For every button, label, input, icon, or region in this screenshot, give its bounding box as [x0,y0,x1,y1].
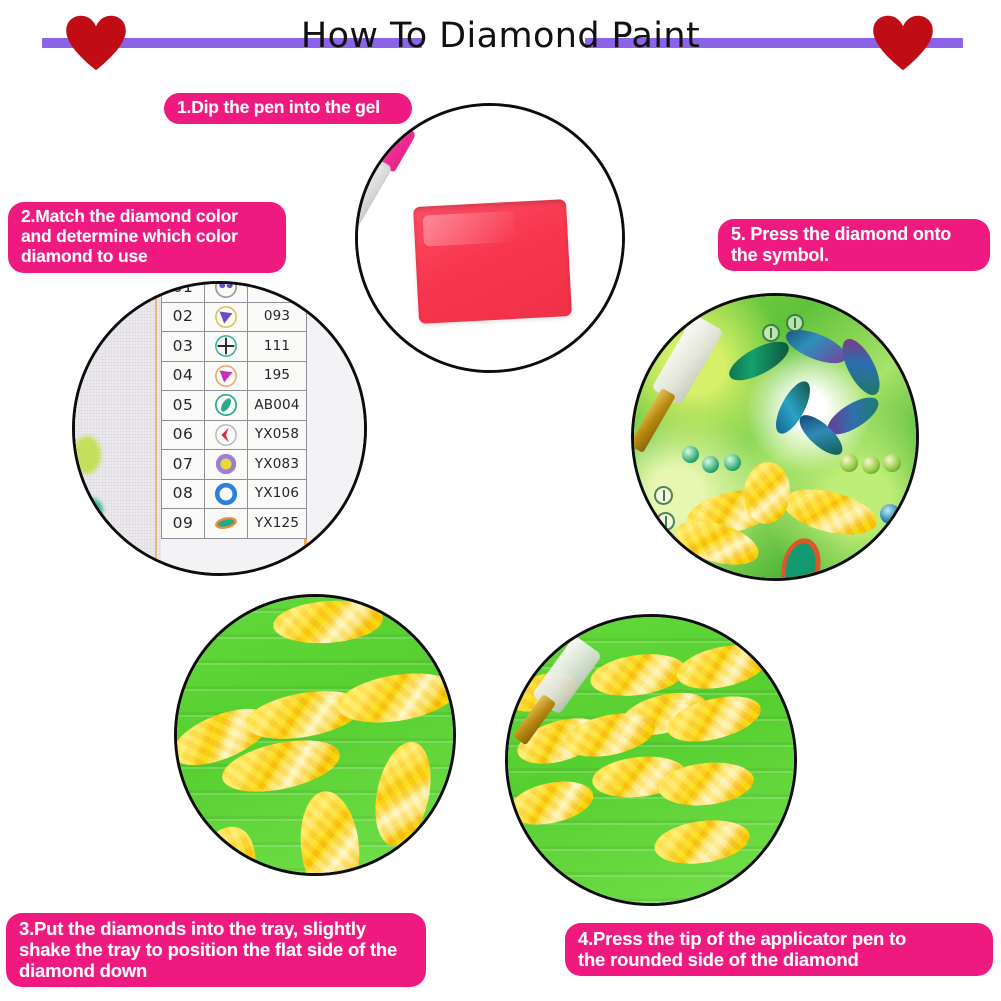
step-5-label-line-1: 5. Press the diamond onto [731,224,977,245]
triangle-symbol [205,363,247,389]
color-chart-row: 08 YX106 [162,479,307,509]
chart-cell-number: 09 [162,509,205,539]
photo-pen-dipping-in-gel [355,103,625,373]
ring-symbol [205,481,247,507]
color-chart-row: 02 093 [162,302,307,332]
plus-symbol [205,333,247,359]
chart-cell-number: 02 [162,302,205,332]
step-2-label-line-3: diamond to use [21,247,273,267]
chart-cell-symbol [205,281,248,302]
photo-color-chart: 01 02802 09303 11104 19505 [72,281,367,576]
photo-diamonds-in-tray [174,594,456,876]
filled-dot-symbol [205,451,247,477]
chart-cell-code: YX058 [248,420,307,450]
color-chart-row: 03 111 [162,332,307,362]
chart-cell-number: 01 [162,281,205,302]
color-chart-row: 07 YX083 [162,450,307,480]
color-chart-row: 01 028 [162,281,307,302]
gel-pad [413,199,572,324]
color-chart-row: 04 195 [162,361,307,391]
step-3-label: 3.Put the diamonds into the tray, slight… [6,913,426,987]
slash-oval-symbol [205,392,247,418]
photo-placing-diamond-on-canvas [631,293,919,581]
step-3-label-line-1: 3.Put the diamonds into the tray, slight… [19,918,413,939]
chart-cell-symbol [205,332,248,362]
step-3-label-line-2: shake the tray to position the flat side… [19,939,413,960]
photo-pen-picking-diamond [505,614,797,906]
infographic-canvas: How To Diamond Paint 1.Dip the pen into … [0,0,1001,1001]
chart-cell-symbol [205,479,248,509]
chart-cell-code: 195 [248,361,307,391]
step-5-label: 5. Press the diamond onto the symbol. [718,219,990,271]
chart-cell-symbol [205,361,248,391]
step-4-label-line-2: the rounded side of the diamond [578,949,980,970]
page-title: How To Diamond Paint [0,16,1001,56]
triangle-symbol [205,304,247,330]
canvas-color-blob [77,498,103,522]
chart-cell-symbol [205,391,248,421]
chart-cell-code: 093 [248,302,307,332]
chart-cell-number: 03 [162,332,205,362]
step-2-label: 2.Match the diamond color and determine … [8,202,286,273]
double-eye-symbol [205,281,247,300]
color-chart-row: 05 AB004 [162,391,307,421]
chart-cell-number: 07 [162,450,205,480]
chart-cell-number: 06 [162,420,205,450]
color-chart-row: 06 YX058 [162,420,307,450]
step-3-label-line-3: diamond down [19,960,413,981]
chart-cell-symbol [205,450,248,480]
chart-cell-symbol [205,420,248,450]
color-chart-row: 09 YX125 [162,509,307,539]
chart-cell-number: 04 [162,361,205,391]
chart-cell-symbol [205,302,248,332]
chart-cell-symbol [205,509,248,539]
chart-cell-code: 028 [248,281,307,302]
step-1-label: 1.Dip the pen into the gel [164,93,412,124]
chart-cell-number: 05 [162,391,205,421]
step-4-label-line-1: 4.Press the tip of the applicator pen to [578,928,980,949]
chart-cell-code: YX125 [248,509,307,539]
chart-cell-number: 08 [162,479,205,509]
step-2-label-line-1: 2.Match the diamond color [21,207,273,227]
chart-cell-code: YX083 [248,450,307,480]
chevron-left-symbol [205,422,247,448]
chart-cell-code: 111 [248,332,307,362]
step-2-label-line-2: and determine which color [21,227,273,247]
canvas-color-blob [73,436,101,474]
step-5-label-line-2: the symbol. [731,245,977,266]
step-4-label: 4.Press the tip of the applicator pen to… [565,923,993,976]
color-chart-table: 01 02802 09303 11104 19505 [161,281,307,539]
header: How To Diamond Paint [0,0,1001,80]
chart-cell-code: AB004 [248,391,307,421]
chart-cell-code: YX106 [248,479,307,509]
leaf-symbol [205,510,247,536]
